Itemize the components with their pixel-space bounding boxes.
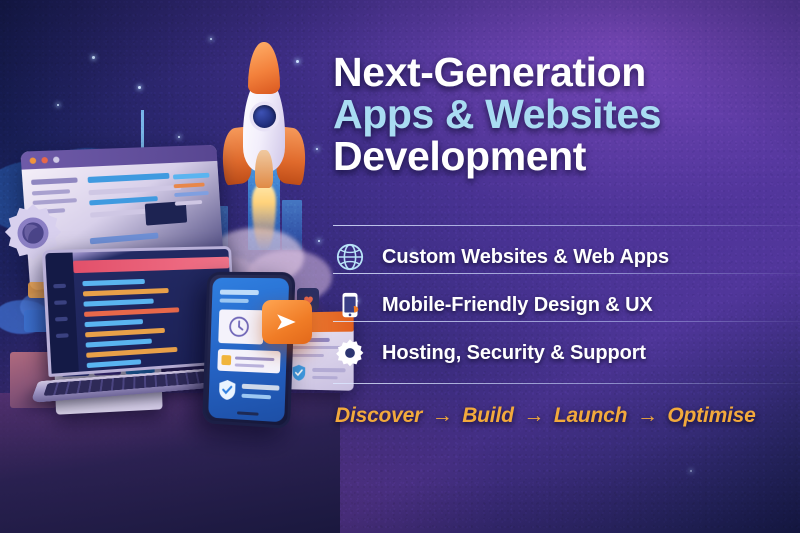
gear-icon: [333, 336, 367, 370]
globe-icon: [333, 240, 367, 274]
feature-item-hosting: Hosting, Security & Support: [333, 336, 800, 370]
process-steps-cta: Discover → Build → Launch → Optimise: [333, 404, 800, 428]
mobile-icon: [333, 288, 367, 322]
cta-step-optimise: Optimise: [667, 404, 755, 427]
feature-item-websites: Custom Websites & Web Apps: [333, 240, 800, 274]
cta-arrow-3: →: [637, 404, 658, 427]
browser-dot-red: [41, 156, 48, 163]
browser-dot-orange: [29, 157, 36, 164]
cta-step-discover: Discover: [335, 404, 422, 427]
headline-line-3: Development: [333, 133, 586, 179]
headline-line-2: Apps & Websites: [333, 94, 800, 136]
browser-dot-grey: [53, 156, 60, 162]
cta-arrow-1: →: [432, 404, 453, 427]
headline-line-1: Next-Generation: [333, 49, 646, 95]
feature-label: Custom Websites & Web Apps: [382, 246, 669, 269]
feature-label: Hosting, Security & Support: [382, 342, 646, 365]
feature-separator-bottom: [333, 383, 800, 384]
feature-separator-top: [333, 225, 800, 226]
promo-banner: Next-Generation Apps & Websites Developm…: [0, 0, 800, 533]
cta-step-launch: Launch: [554, 404, 627, 427]
send-arrow-badge-icon: [262, 300, 312, 344]
feature-label: Mobile-Friendly Design & UX: [382, 294, 653, 317]
page-title: Next-Generation Apps & Websites Developm…: [333, 52, 800, 177]
cta-arrow-2: →: [523, 404, 544, 427]
content-column: Next-Generation Apps & Websites Developm…: [333, 0, 800, 533]
cta-step-build: Build: [462, 404, 514, 427]
smartphone-mockup: [202, 272, 295, 429]
feature-separator-2: [333, 321, 800, 322]
feature-separator-1: [333, 273, 800, 274]
feature-item-mobile: Mobile-Friendly Design & UX: [333, 288, 800, 322]
